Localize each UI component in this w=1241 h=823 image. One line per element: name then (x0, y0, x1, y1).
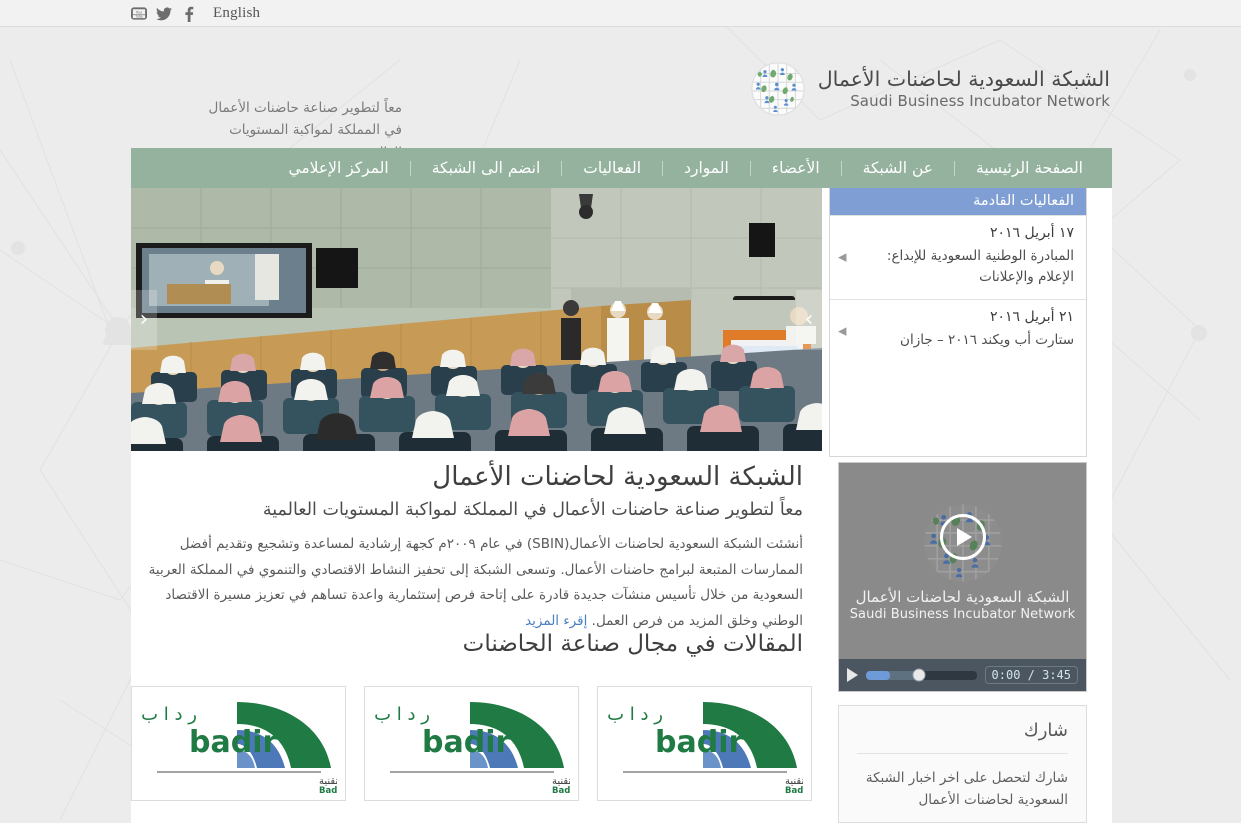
intro-section: الشبكة السعودية لحاضنات الأعمال معاً لتط… (131, 462, 803, 635)
logo-text: الشبكة السعودية لحاضنات الأعمال Saudi Bu… (818, 67, 1110, 111)
article-caption (364, 808, 579, 822)
article-card[interactable]: ر د ا ب badir برنامج بادر لحاضنات التقني… (131, 686, 346, 801)
video-progress-handle[interactable] (913, 669, 926, 682)
nav-item-home[interactable]: الصفحة الرئيسية (955, 148, 1104, 188)
video-time-display: 0:00 / 3:45 (985, 666, 1078, 684)
svg-text:Badir Program for Technology I: Badir Program for Technology Incubators (319, 786, 337, 794)
svg-text:ر د ا ب: ر د ا ب (374, 704, 430, 725)
article-caption (597, 808, 812, 822)
chevron-left-icon: ◀ (838, 251, 846, 264)
events-panel-heading: الفعاليات القادمة (830, 188, 1086, 215)
main-navigation: الصفحة الرئيسية عن الشبكة الأعضاء الموار… (131, 148, 1112, 188)
read-more-link[interactable]: إقرء المزيد (525, 613, 587, 629)
svg-text:Tube: Tube (134, 15, 143, 19)
video-play-overlay-button[interactable] (940, 514, 986, 560)
tagline-line-1: معاً لتطوير صناعة حاضنات الأعمال (186, 97, 402, 119)
page-root: You Tube English الشبكة السعودية لحا (0, 0, 1241, 823)
logo-title-en: Saudi Business Incubator Network (818, 92, 1110, 111)
nav-separator (841, 161, 842, 176)
upcoming-events-panel: الفعاليات القادمة ◀ ١٧ أبريل ٢٠١٦ المباد… (829, 188, 1087, 457)
nav-separator (750, 161, 751, 176)
articles-card-row: ر د ا ب badir برنامج بادر لحاضنات التقني… (131, 686, 812, 801)
top-utility-bar: You Tube English (0, 0, 1241, 27)
event-title: المبادرة الوطنية السعودية للإبداع: الإعل… (852, 246, 1074, 288)
intro-paragraph: أنشئت الشبكة السعودية لحاضنات الأعمال(SB… (131, 532, 803, 635)
topbar-inner: You Tube English (131, 0, 260, 27)
event-title: ستارت أب ويكند ٢٠١٦ – جازان (852, 330, 1074, 351)
chevron-left-icon: ◀ (838, 324, 846, 337)
content-area: ‹ › الفعاليات القادمة ◀ ١٧ أبريل ٢٠١٦ ال… (131, 188, 1112, 823)
svg-text:Badir Program for Technology I: Badir Program for Technology Incubators (552, 786, 570, 794)
nav-item-events[interactable]: الفعاليات (562, 148, 662, 188)
nav-item-resources[interactable]: الموارد (663, 148, 750, 188)
article-caption-row (131, 808, 812, 822)
page-subtitle: معاً لتطوير صناعة حاضنات الأعمال في المم… (131, 500, 803, 520)
nav-item-about[interactable]: عن الشبكة (842, 148, 954, 188)
events-panel-filler (830, 362, 1086, 456)
svg-text:badir: badir (189, 725, 277, 760)
share-panel-text: شارك لتحصل على اخر اخبار الشبكة السعودية… (857, 767, 1068, 812)
carousel-prev-button[interactable]: ‹ (131, 290, 157, 350)
video-progress-slider[interactable] (866, 671, 977, 680)
nav-separator (954, 161, 955, 176)
carousel-next-button[interactable]: › (796, 290, 822, 350)
nav-item-media[interactable]: المركز الإعلامي (267, 148, 409, 188)
video-progress-fill (866, 671, 890, 680)
badir-logo: ر د ا ب badir برنامج بادر لحاضنات التقني… (141, 694, 337, 794)
article-caption (131, 808, 346, 822)
article-card[interactable]: ر د ا ب badir برنامج بادر لحاضنات التقني… (364, 686, 579, 801)
event-list-item[interactable]: ◀ ٢١ أبريل ٢٠١٦ ستارت أب ويكند ٢٠١٦ – جا… (830, 299, 1086, 362)
video-play-button[interactable] (847, 668, 858, 682)
svg-text:ر د ا ب: ر د ا ب (607, 704, 663, 725)
site-logo[interactable]: الشبكة السعودية لحاضنات الأعمال Saudi Bu… (749, 60, 1110, 118)
event-list-item[interactable]: ◀ ١٧ أبريل ٢٠١٦ المبادرة الوطنية السعودي… (830, 215, 1086, 299)
video-controls-bar: 0:00 / 3:45 (839, 659, 1086, 691)
nav-separator (410, 161, 411, 176)
share-panel: شارك شارك لتحصل على اخر اخبار الشبكة الس… (838, 705, 1087, 823)
articles-section-title: المقالات في مجال صناعة الحاضنات (131, 631, 803, 657)
hero-image (131, 188, 822, 451)
intro-body-text: أنشئت الشبكة السعودية لحاضنات الأعمال(SB… (149, 536, 803, 629)
facebook-icon[interactable] (181, 6, 197, 22)
video-logo-title-en: Saudi Business Incubator Network (850, 607, 1076, 622)
sbin-globe-icon (749, 60, 807, 118)
video-logo-title-ar: الشبكة السعودية لحاضنات الأعمال (856, 588, 1070, 608)
svg-text:Badir Program for Technology I: Badir Program for Technology Incubators (785, 786, 803, 794)
page-title: الشبكة السعودية لحاضنات الأعمال (131, 462, 803, 492)
video-stage: الشبكة السعودية لحاضنات الأعمال Saudi Bu… (839, 463, 1086, 659)
youtube-icon[interactable]: You Tube (131, 6, 147, 22)
svg-text:ر د ا ب: ر د ا ب (141, 704, 197, 725)
language-link[interactable]: English (213, 5, 260, 22)
hero-carousel[interactable]: ‹ › (131, 188, 822, 451)
video-player[interactable]: الشبكة السعودية لحاضنات الأعمال Saudi Bu… (838, 462, 1087, 692)
nav-item-join[interactable]: انضم الى الشبكة (411, 148, 562, 188)
nav-separator (662, 161, 663, 176)
svg-text:badir: badir (422, 725, 510, 760)
svg-text:badir: badir (655, 725, 743, 760)
share-divider (857, 753, 1068, 754)
logo-title-ar: الشبكة السعودية لحاضنات الأعمال (818, 67, 1110, 93)
event-date: ١٧ أبريل ٢٠١٦ (852, 225, 1074, 241)
twitter-icon[interactable] (156, 6, 172, 22)
badir-logo: ر د ا ب badir برنامج بادر لحاضنات التقني… (374, 694, 570, 794)
article-card[interactable]: ر د ا ب badir برنامج بادر لحاضنات التقني… (597, 686, 812, 801)
event-date: ٢١ أبريل ٢٠١٦ (852, 309, 1074, 325)
site-header: الشبكة السعودية لحاضنات الأعمال Saudi Bu… (0, 27, 1241, 148)
nav-item-members[interactable]: الأعضاء (751, 148, 841, 188)
share-panel-title: شارك (857, 720, 1068, 741)
nav-separator (561, 161, 562, 176)
badir-logo: ر د ا ب badir برنامج بادر لحاضنات التقني… (607, 694, 803, 794)
